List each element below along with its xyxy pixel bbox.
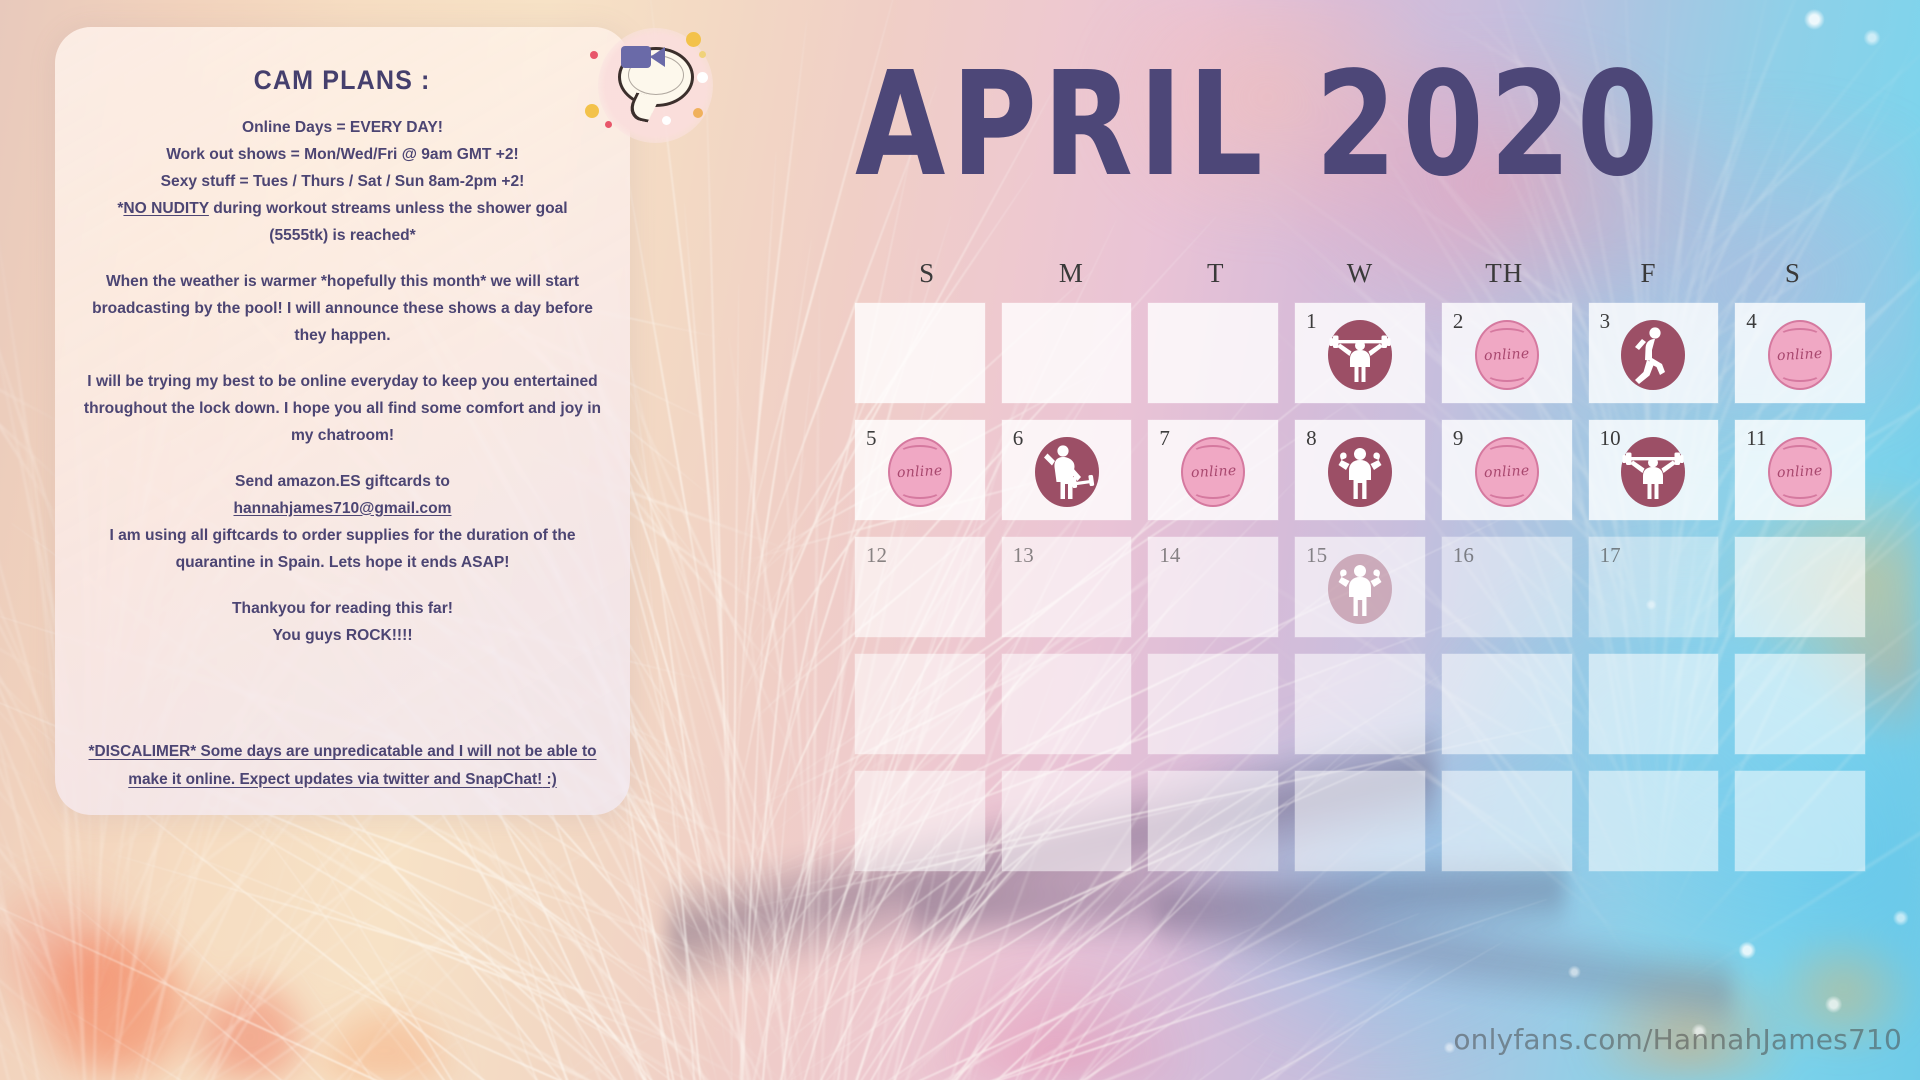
online-badge: online [1768,437,1832,507]
nudity-rest: during workout streams unless the shower… [209,200,568,217]
calendar-day-cell[interactable] [1442,771,1572,871]
video-camera-speech-bubble-icon [598,28,713,143]
weekday-header-3: W [1288,258,1432,289]
no-nudity-emphasis: NO NUDITY [123,200,208,217]
online-badge-label: online [1484,463,1530,481]
calendar: APRIL 2020 SMTWTHFS 1 2 online 3 [855,52,1865,871]
giftcards-email[interactable]: hannahjames710@gmail.com [77,496,608,523]
calendar-day-cell[interactable]: 15 [1295,537,1425,637]
schedule-block: Online Days = EVERY DAY! Work out shows … [77,115,608,250]
calendar-day-cell[interactable]: 16 [1442,537,1572,637]
online-badge: online [1475,320,1539,390]
calendar-day-cell[interactable]: 3 [1589,303,1719,403]
weekday-header-1: M [999,258,1143,289]
calendar-day-cell[interactable] [1589,654,1719,754]
giftcards-intro: Send amazon.ES giftcards to [77,469,608,496]
day-number: 5 [866,426,877,451]
calendar-day-cell[interactable]: 5 online [855,420,985,520]
giftcards-note: I am using all giftcards to order suppli… [77,523,608,577]
day-number: 14 [1159,543,1180,568]
online-badge-label: online [1484,346,1530,364]
calendar-day-cell[interactable]: 6 [1002,420,1132,520]
calendar-day-cell[interactable] [1735,654,1865,754]
calendar-day-cell[interactable] [1002,303,1132,403]
weekday-header-0: S [855,258,999,289]
calendar-day-cell[interactable] [1589,771,1719,871]
online-badge-arc-bottom [1486,366,1528,382]
panel-body: Online Days = EVERY DAY! Work out shows … [77,115,608,649]
paragraph-online: I will be trying my best to be online ev… [77,369,608,450]
day-number: 8 [1306,426,1317,451]
calendar-day-cell[interactable] [1295,654,1425,754]
day-number: 10 [1600,426,1621,451]
cam-plans-panel: CAM PLANS : Online Days = EVERY DAY! Wor… [55,27,630,815]
confetti-dot [605,121,612,128]
calendar-day-cell[interactable]: 13 [1002,537,1132,637]
schedule-workout-shows: Work out shows = Mon/Wed/Fri @ 9am GMT +… [77,142,608,169]
day-number: 11 [1746,426,1766,451]
calendar-day-cell[interactable] [1148,771,1278,871]
day-number: 6 [1013,426,1024,451]
workout-flex-icon [1328,554,1392,624]
confetti-dot [585,104,599,118]
calendar-day-cell[interactable]: 12 [855,537,985,637]
thanks-line-1: Thankyou for reading this far! [77,596,608,623]
calendar-day-cell[interactable]: 2 online [1442,303,1572,403]
online-badge-arc-top [899,445,941,461]
weekday-header-2: T [1144,258,1288,289]
calendar-weekday-header: SMTWTHFS [855,258,1865,289]
calendar-day-cell[interactable]: 11 online [1735,420,1865,520]
online-badge: online [888,437,952,507]
day-number: 12 [866,543,887,568]
camera-icon [621,46,651,68]
online-badge-arc-bottom [1192,483,1234,499]
confetti-dot [699,51,706,58]
calendar-day-cell[interactable] [855,771,985,871]
schedule-sexy-stuff: Sexy stuff = Tues / Thurs / Sat / Sun 8a… [77,169,608,196]
calendar-title: APRIL 2020 [855,52,1855,196]
online-badge: online [1181,437,1245,507]
online-badge: online [1768,320,1832,390]
workout-barbell-icon [1621,437,1685,507]
confetti-dot [686,32,701,47]
weekday-header-6: S [1721,258,1865,289]
schedule-nudity-rule: *NO NUDITY during workout streams unless… [77,196,608,223]
calendar-day-cell[interactable]: 1 [1295,303,1425,403]
confetti-dot [693,108,703,118]
calendar-day-cell[interactable] [1002,771,1132,871]
day-number: 3 [1600,309,1611,334]
calendar-day-cell[interactable] [1148,303,1278,403]
day-number: 1 [1306,309,1317,334]
day-number: 2 [1453,309,1464,334]
online-badge: online [1475,437,1539,507]
workout-flex-icon [1328,437,1392,507]
online-badge-arc-top [1192,445,1234,461]
calendar-day-cell[interactable] [1295,771,1425,871]
calendar-day-cell[interactable]: 8 [1295,420,1425,520]
shower-goal-amount: (5555tk) is reached* [77,223,608,250]
confetti-dot [662,116,671,125]
weekday-header-5: F [1576,258,1720,289]
calendar-day-cell[interactable] [1735,771,1865,871]
online-badge-arc-top [1486,445,1528,461]
schedule-online-days: Online Days = EVERY DAY! [77,115,608,142]
online-badge-arc-bottom [1779,483,1821,499]
online-badge-label: online [897,463,943,481]
calendar-day-cell[interactable]: 7 online [1148,420,1278,520]
day-number: 13 [1013,543,1034,568]
day-number: 16 [1453,543,1474,568]
online-badge-arc-top [1486,328,1528,344]
watermark: onlyfans.com/HannahJames710 [1453,1023,1902,1056]
day-number: 15 [1306,543,1327,568]
day-number: 9 [1453,426,1464,451]
calendar-day-cell[interactable]: 4 online [1735,303,1865,403]
disclaimer-line-1: *DISCALIMER* Some days are unpredicatabl… [77,738,608,765]
thanks-block: Thankyou for reading this far! You guys … [77,596,608,650]
calendar-day-cell[interactable]: 10 [1589,420,1719,520]
giftcards-block: Send amazon.ES giftcards to hannahjames7… [77,469,608,577]
thanks-line-2: You guys ROCK!!!! [77,623,608,650]
calendar-day-cell[interactable] [855,303,985,403]
workout-dumbbell-icon [1035,437,1099,507]
online-badge-label: online [1777,346,1823,364]
day-number: 17 [1600,543,1621,568]
day-number: 7 [1159,426,1170,451]
paragraph-pool: When the weather is warmer *hopefully th… [77,269,608,350]
disclaimer: *DISCALIMER* Some days are unpredicatabl… [77,738,608,793]
calendar-day-cell[interactable] [1735,537,1865,637]
day-number: 4 [1746,309,1757,334]
online-badge-arc-bottom [899,483,941,499]
workout-barbell-icon [1328,320,1392,390]
online-badge-arc-top [1779,328,1821,344]
page-title: CAM PLANS : [254,65,431,96]
calendar-day-cell[interactable]: 14 [1148,537,1278,637]
disclaimer-line-2: make it online. Expect updates via twitt… [128,771,542,788]
calendar-day-cell[interactable] [1148,654,1278,754]
calendar-day-cell[interactable] [855,654,985,754]
disclaimer-smiley: :) [542,771,557,788]
online-badge-arc-bottom [1486,483,1528,499]
workout-lunge-icon [1621,320,1685,390]
confetti-dot [697,72,708,83]
online-badge-arc-top [1779,445,1821,461]
calendar-day-cell[interactable]: 17 [1589,537,1719,637]
online-badge-arc-bottom [1779,366,1821,382]
calendar-day-cell[interactable] [1442,654,1572,754]
weekday-header-4: TH [1432,258,1576,289]
online-badge-label: online [1190,463,1236,481]
calendar-day-cell[interactable] [1002,654,1132,754]
online-badge-label: online [1777,463,1823,481]
confetti-dot [590,51,598,59]
calendar-grid: 1 2 online 3 4 [855,303,1865,871]
calendar-day-cell[interactable]: 9 online [1442,420,1572,520]
